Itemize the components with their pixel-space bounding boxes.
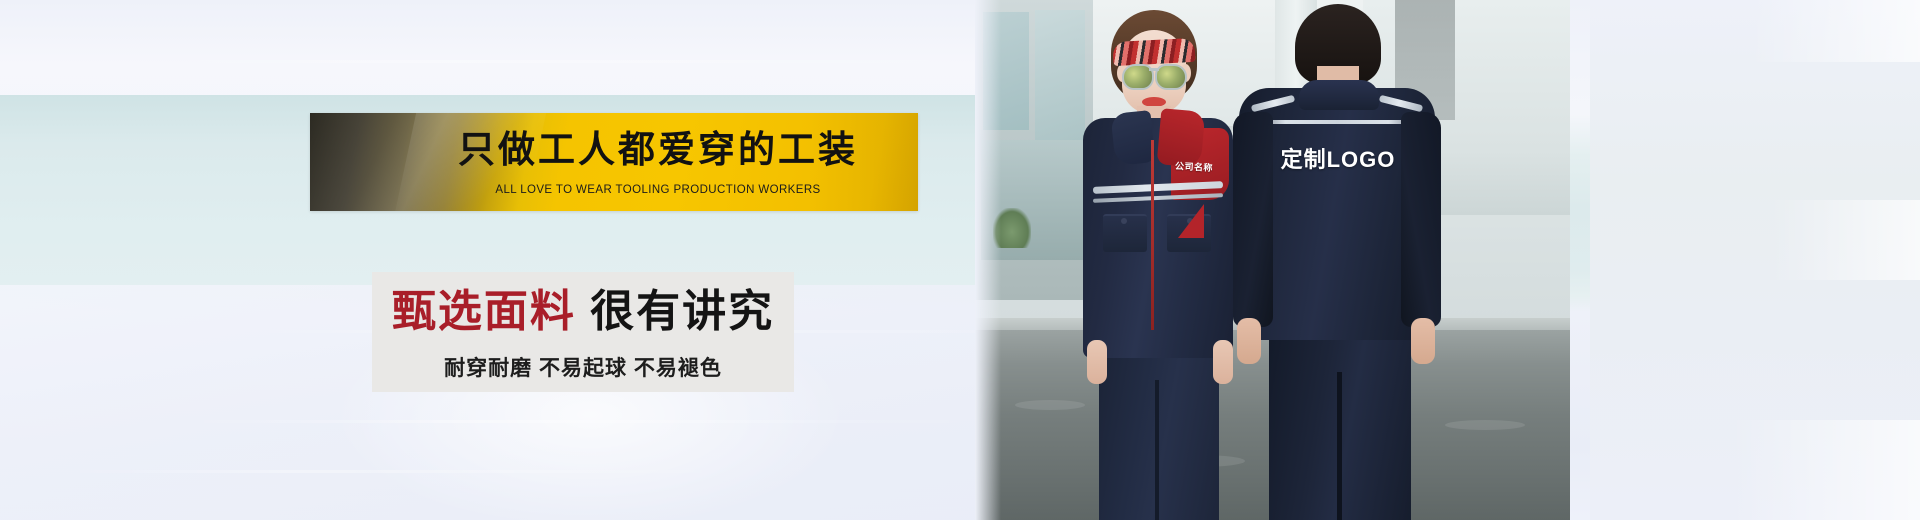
female-collar-left [1110, 110, 1155, 166]
female-trouser-seam [1155, 380, 1159, 520]
headline-plain: 很有讲究 [590, 287, 774, 336]
female-jacket-red-accent [1178, 204, 1204, 238]
male-collar [1299, 80, 1379, 110]
model-female: 公司名称 [1075, 8, 1250, 520]
model-male: 定制LOGO [1233, 0, 1443, 520]
promo-banner: 只做工人都爱穿的工装 ALL LOVE TO WEAR TOOLING PROD… [0, 0, 1920, 520]
headline: 甄选面料 很有讲究 [372, 284, 794, 339]
female-jacket-zipper [1151, 140, 1154, 330]
female-headband [1112, 38, 1195, 66]
background-streak [180, 420, 1000, 423]
male-sleeve-left [1233, 112, 1273, 327]
female-hand-left [1087, 340, 1107, 384]
female-trousers [1099, 338, 1219, 520]
photo-ground-speckle [1445, 420, 1525, 430]
female-pocket-button [1121, 218, 1127, 224]
ribbon-title: 只做工人都爱穿的工装 [310, 130, 918, 171]
male-hand-left [1237, 318, 1261, 364]
edge-highlight [1730, 420, 1920, 520]
female-hand-right [1213, 340, 1233, 384]
edge-highlight [1770, 200, 1920, 280]
male-sleeve-right [1401, 112, 1441, 327]
male-hand-right [1411, 318, 1435, 364]
headline-subline: 耐穿耐磨 不易起球 不易褪色 [372, 352, 794, 382]
product-photo: 公司名称 定制LOGO [975, 0, 1570, 520]
sunglasses-bridge [1149, 68, 1159, 71]
background-streak [140, 60, 1040, 63]
male-trouser-seam [1337, 372, 1342, 520]
edge-highlight [1750, 0, 1920, 62]
ribbon-subtitle: ALL LOVE TO WEAR TOOLING PRODUCTION WORK… [310, 184, 918, 196]
photo-left-fade [975, 0, 1001, 520]
headline-accent: 甄选面料 [392, 287, 576, 336]
slogan-ribbon: 只做工人都爱穿的工装 ALL LOVE TO WEAR TOOLING PROD… [310, 113, 918, 211]
sunglasses-lens-right [1155, 64, 1187, 90]
background-streak [60, 470, 760, 473]
female-chest-logo-text: 公司名称 [1175, 159, 1214, 174]
